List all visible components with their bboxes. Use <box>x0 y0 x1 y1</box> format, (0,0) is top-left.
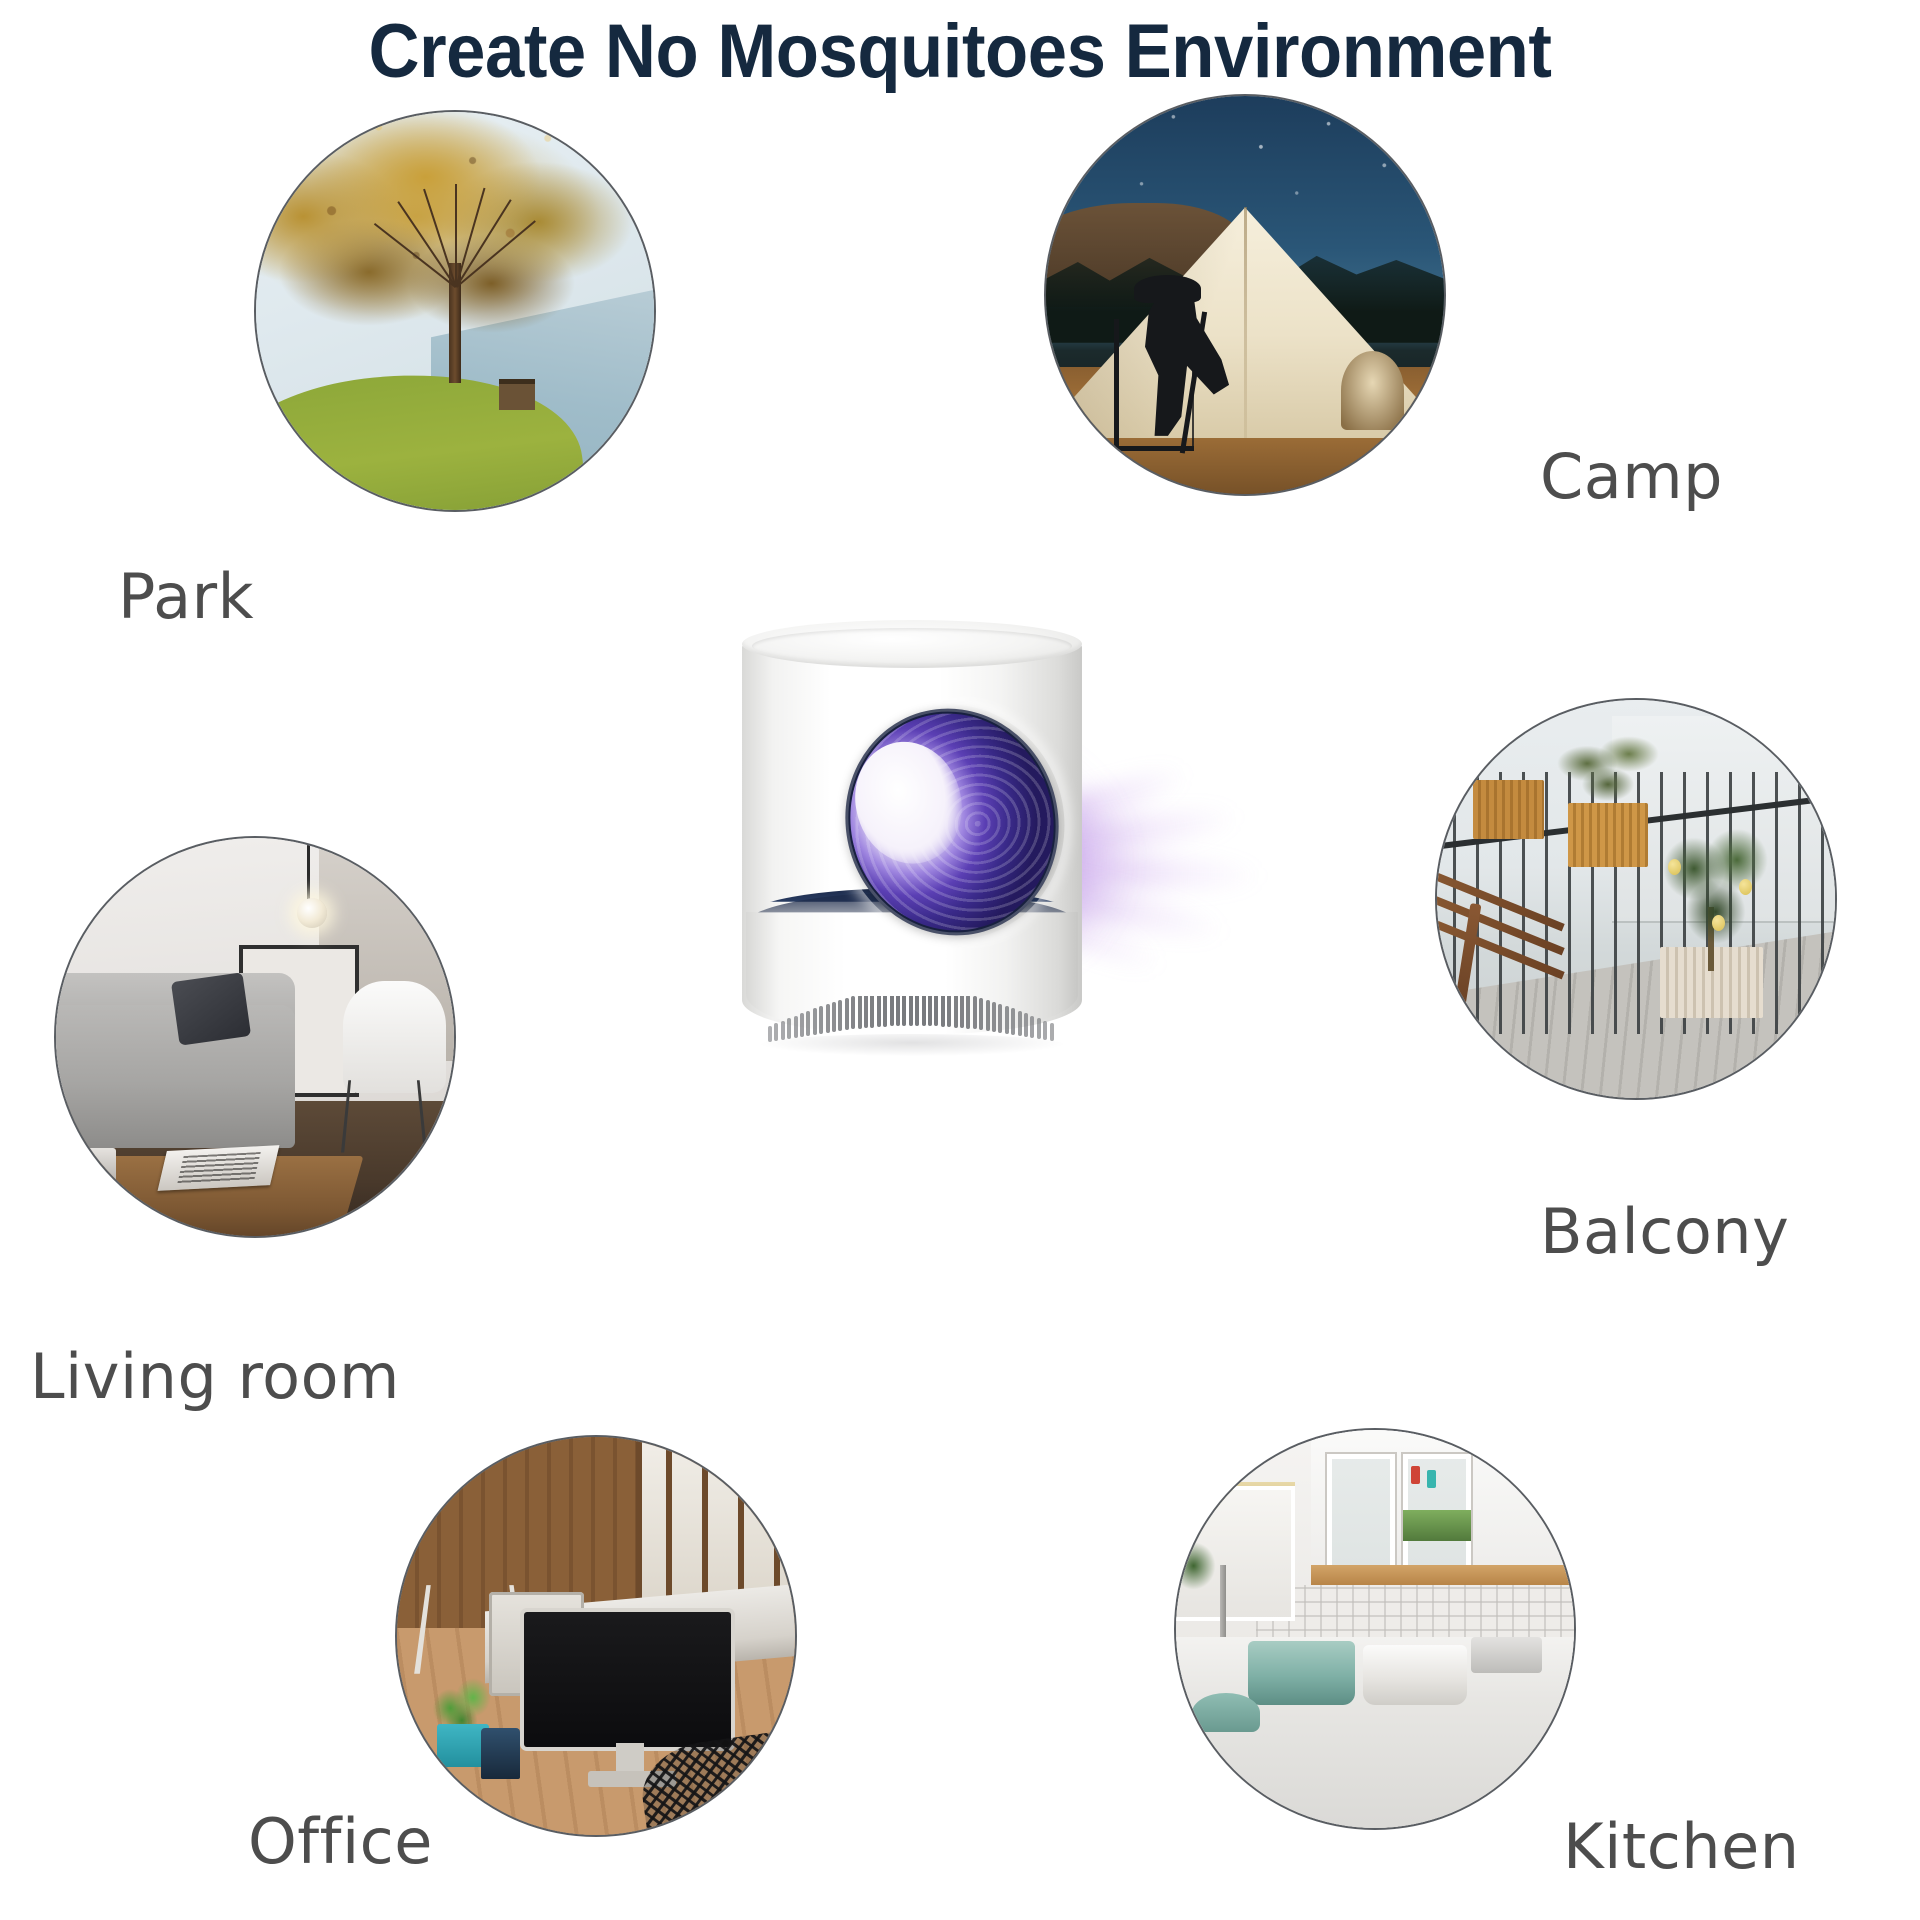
scene-label-camp: Camp <box>1540 440 1723 513</box>
page-title: Create No Mosquitoes Environment <box>67 8 1853 95</box>
scene-label-office: Office <box>248 1805 433 1878</box>
device-top-cap <box>742 620 1082 668</box>
scene-image-office <box>397 1437 795 1835</box>
balcony-illustration <box>1437 700 1835 1098</box>
scene-image-balcony <box>1437 700 1835 1098</box>
camp-illustration <box>1046 96 1444 494</box>
scene-image-kitchen <box>1176 1430 1574 1828</box>
scene-image-living-room <box>56 838 454 1236</box>
scene-label-living-room: Living room <box>30 1340 400 1413</box>
device-base-shadow <box>760 1034 1064 1056</box>
kitchen-illustration <box>1176 1430 1574 1828</box>
living-room-illustration <box>56 838 454 1236</box>
scene-image-camp <box>1046 96 1444 494</box>
scene-image-park <box>256 112 654 510</box>
scene-label-kitchen: Kitchen <box>1563 1810 1800 1883</box>
park-illustration <box>256 112 654 510</box>
scene-label-park: Park <box>118 560 254 633</box>
office-illustration <box>397 1437 795 1835</box>
scene-label-balcony: Balcony <box>1540 1195 1789 1268</box>
product-device-mosquito-lamp <box>742 620 1082 1050</box>
